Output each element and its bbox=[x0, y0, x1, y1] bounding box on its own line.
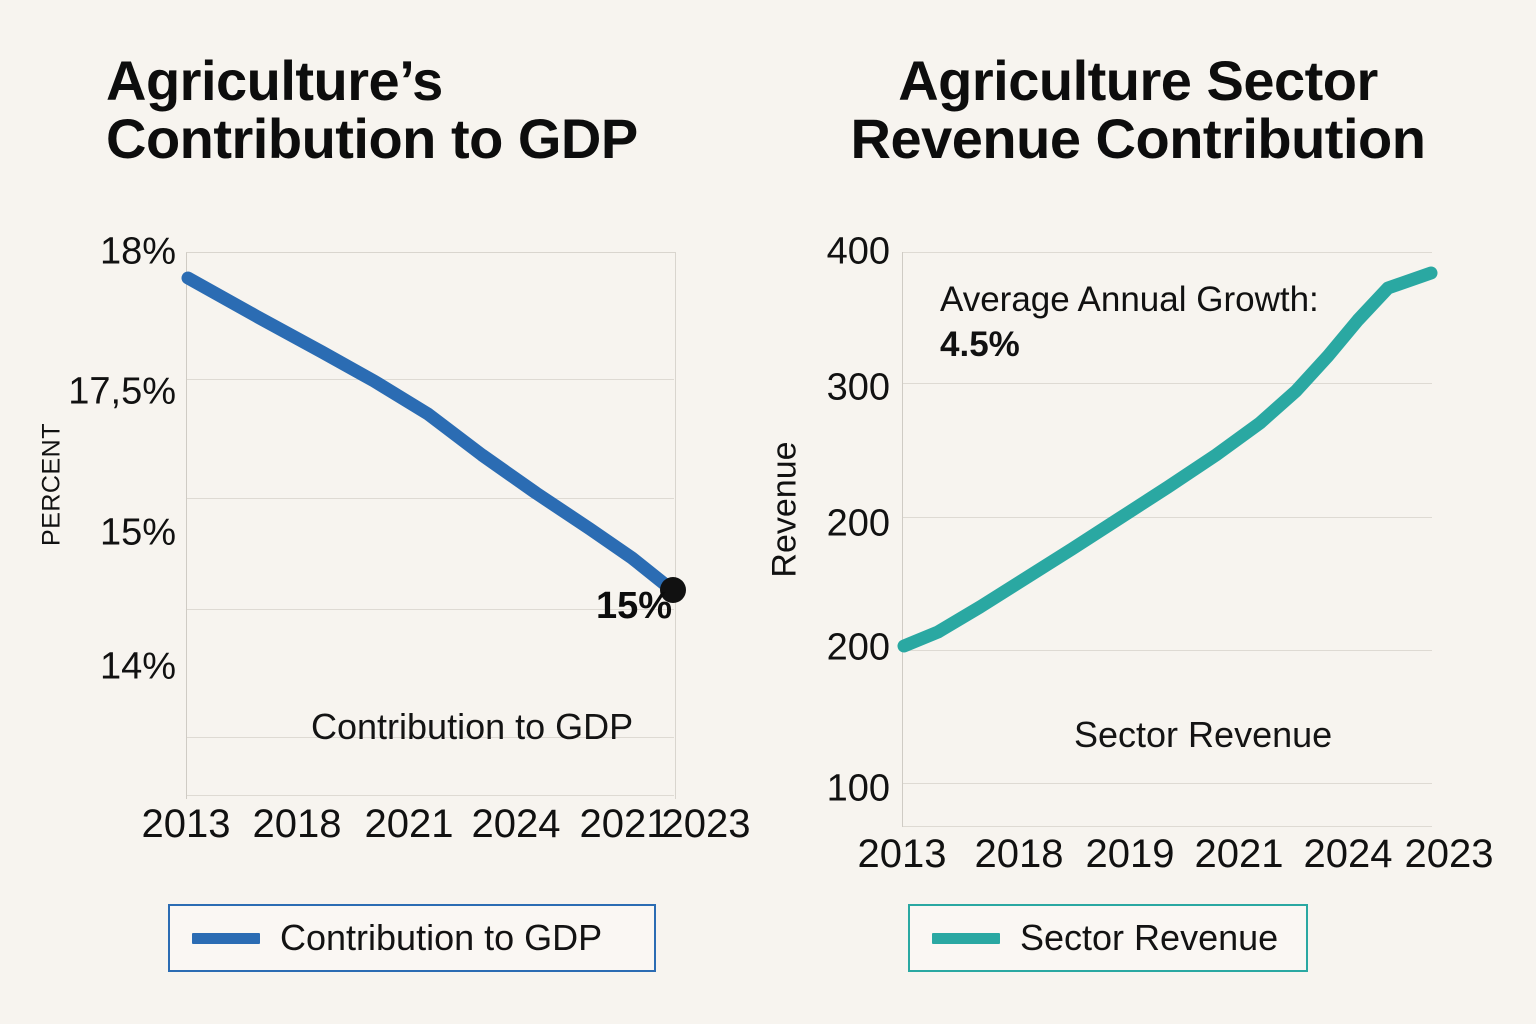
x-tick-label: 2013 bbox=[142, 802, 231, 847]
legend-right[interactable]: Sector Revenue bbox=[908, 904, 1308, 972]
x-tick-label: 2019 bbox=[1086, 832, 1175, 877]
x-tick-label: 2021 bbox=[365, 802, 454, 847]
x-tick-label: 2024 bbox=[472, 802, 561, 847]
endpoint-value-label: 15% bbox=[596, 585, 672, 628]
legend-label: Sector Revenue bbox=[1020, 917, 1278, 959]
legend-left[interactable]: Contribution to GDP bbox=[168, 904, 656, 972]
panel-sector-revenue: Agriculture Sector Revenue Contribution … bbox=[768, 0, 1536, 1024]
x-tick-label: 2021 bbox=[1195, 832, 1284, 877]
x-tick-label: 2018 bbox=[975, 832, 1064, 877]
x-tick-label: 2024 bbox=[1304, 832, 1393, 877]
growth-annotation-value: 4.5% bbox=[940, 323, 1319, 368]
growth-annotation: Average Annual Growth: 4.5% bbox=[940, 278, 1319, 368]
x-tick-label: 2018 bbox=[253, 802, 342, 847]
x-tick-label: 2013 bbox=[858, 832, 947, 877]
x-tick-label: 2021 bbox=[580, 802, 669, 847]
growth-annotation-title: Average Annual Growth: bbox=[940, 278, 1319, 323]
chart-page: Agriculture’s Contribution to GDP 18% 17… bbox=[0, 0, 1536, 1024]
legend-label: Contribution to GDP bbox=[280, 917, 602, 959]
panel-gdp-contribution: Agriculture’s Contribution to GDP 18% 17… bbox=[0, 0, 768, 1024]
legend-swatch-icon bbox=[932, 933, 1000, 944]
inplot-series-label-left: Contribution to GDP bbox=[311, 706, 633, 748]
legend-swatch-icon bbox=[192, 933, 260, 944]
inplot-series-label-right: Sector Revenue bbox=[1074, 714, 1332, 756]
x-tick-label: 2023 bbox=[1405, 832, 1494, 877]
series-line-contribution-to-gdp bbox=[0, 0, 768, 1024]
